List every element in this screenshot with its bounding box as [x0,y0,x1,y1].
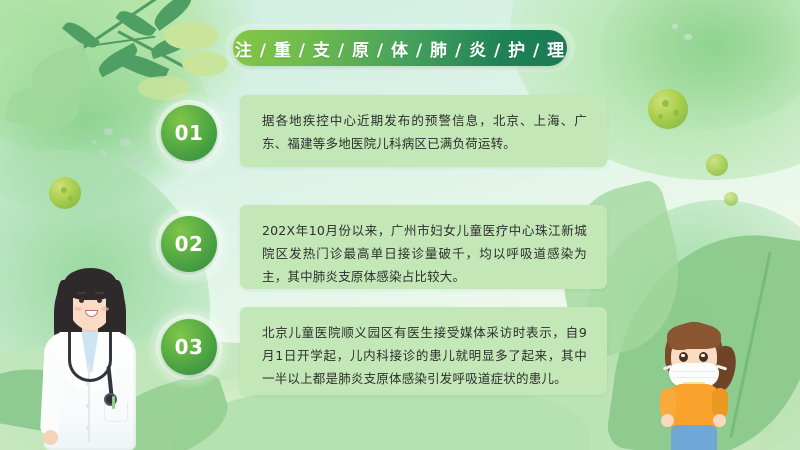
doctor-coat-button [86,404,90,408]
content-card: 据各地疾控中心近期发布的预警信息，北京、上海、广东、福建等多地医院儿科病区已满负… [240,95,607,167]
doctor-eye-left [79,298,84,303]
step-number-badge: 03 [147,305,231,389]
doctor-coat-button [86,426,90,430]
badge-circle: 03 [161,319,217,375]
coronavirus-icon [720,188,742,210]
face-mask-pleat [673,371,715,372]
doctor-eye-right [97,298,102,303]
badge-circle: 01 [161,105,217,161]
card-text: 北京儿童医院顺义园区有医生接受媒体采访时表示，自9月1日开学起，儿内科接诊的患儿… [262,321,587,390]
child-pants [671,425,717,450]
coronavirus-icon [40,168,90,218]
doctor-pen-icon [112,396,115,409]
slide-title-pill: 注 / 重 / 支 / 原 / 体 / 肺 / 炎 / 护 / 理 [233,30,567,66]
child-hand-left [661,414,674,427]
doctor-cheek-left [74,307,82,311]
badge-circle: 02 [161,216,217,272]
step-number-badge: 01 [147,91,231,175]
doctor-coat-pocket [104,402,128,422]
doctor-eyebrow-right [95,292,104,294]
child-eye-left [679,352,688,362]
coronavirus-icon [637,78,699,140]
doctor-hand-left [43,430,58,445]
page-title: 注 / 重 / 支 / 原 / 体 / 肺 / 炎 / 护 / 理 [235,36,565,61]
child-illustration [655,318,737,450]
badge-number: 01 [175,121,204,145]
slide-canvas: 注 / 重 / 支 / 原 / 体 / 肺 / 炎 / 护 / 理 据各地疾控中… [0,0,800,450]
coronavirus-icon [700,148,734,182]
card-text: 202X年10月份以来，广州市妇女儿童医疗中心珠江新城院区发热门诊最高单日接诊量… [262,219,587,288]
child-eye-right [699,352,708,362]
badge-number: 03 [175,335,204,359]
badge-number: 02 [175,232,204,256]
child-hair-bangs [669,332,693,350]
doctor-coat-button [86,382,90,386]
child-hand-right [713,414,726,427]
doctor-cheek-right [101,307,109,311]
stethoscope-icon [68,332,112,382]
card-text: 据各地疾控中心近期发布的预警信息，北京、上海、广东、福建等多地医院儿科病区已满负… [262,109,587,155]
content-card: 北京儿童医院顺义园区有医生接受媒体采访时表示，自9月1日开学起，儿内科接诊的患儿… [240,307,607,395]
background-blob-top-right-2 [600,0,800,130]
doctor-eyebrow-left [77,292,86,294]
face-mask-pleat [673,377,715,378]
step-number-badge: 02 [147,202,231,286]
content-card: 202X年10月份以来，广州市妇女儿童医疗中心珠江新城院区发热门诊最高单日接诊量… [240,205,607,289]
doctor-illustration [38,262,142,450]
